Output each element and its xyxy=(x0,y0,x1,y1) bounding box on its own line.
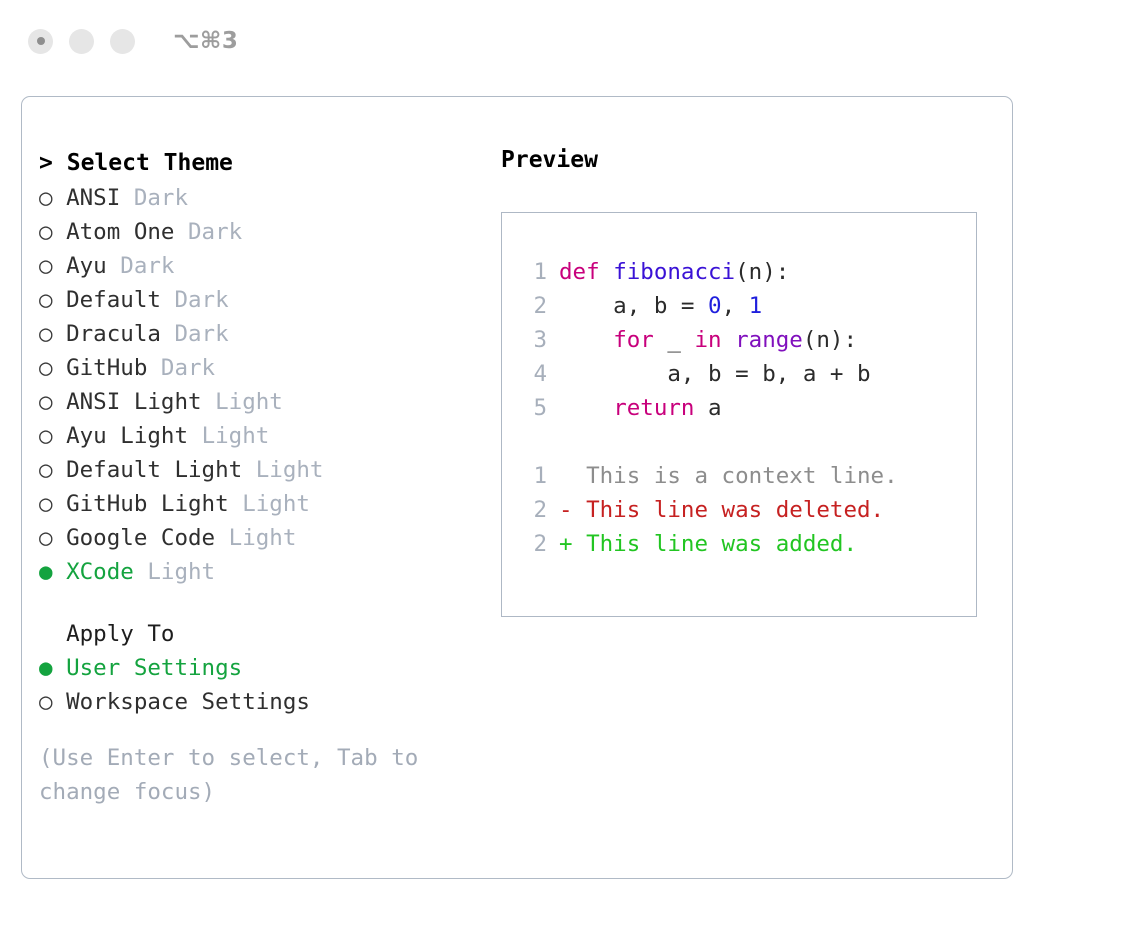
code-token: a xyxy=(694,395,721,421)
code-token: def xyxy=(559,259,613,285)
theme-list-item[interactable]: ○ GitHub Dark xyxy=(39,351,489,385)
radio-unselected-icon: ○ xyxy=(39,457,53,483)
diff-line-text: This is a context line. xyxy=(573,463,898,489)
theme-list-item-tag: Dark xyxy=(174,287,228,313)
preview-box: 1def fibonacci(n):2 a, b = 0, 13 for _ i… xyxy=(501,212,977,617)
code-line-number: 4 xyxy=(521,357,547,391)
theme-list-item-label: ANSI Light xyxy=(66,389,201,415)
radio-unselected-icon: ○ xyxy=(39,219,53,245)
apply-to-option-label: User Settings xyxy=(66,655,242,681)
code-token xyxy=(559,327,613,353)
theme-list-item-label: Ayu Light xyxy=(66,423,188,449)
theme-list-item-tag: Light xyxy=(202,423,270,449)
apply-to-list: ● User Settings○ Workspace Settings xyxy=(39,651,489,719)
theme-list-item[interactable]: ○ Dracula Dark xyxy=(39,317,489,351)
code-token: , xyxy=(722,293,749,319)
diff-line: 1 This is a context line. xyxy=(521,459,898,493)
radio-selected-icon: ● xyxy=(39,559,53,585)
theme-list-item-tag: Light xyxy=(229,525,297,551)
theme-list-item-label: Default Light xyxy=(66,457,242,483)
radio-unselected-icon: ○ xyxy=(39,525,53,551)
theme-list-item[interactable]: ● XCode Light xyxy=(39,555,489,589)
keyboard-hint: (Use Enter to select, Tab to change focu… xyxy=(39,741,444,809)
window-title: ⌥⌘3 xyxy=(173,28,238,54)
theme-list-item-tag: Dark xyxy=(120,253,174,279)
code-token: 1 xyxy=(749,293,763,319)
radio-unselected-icon: ○ xyxy=(39,491,53,517)
theme-list-item-label: Ayu xyxy=(66,253,107,279)
code-token xyxy=(559,395,613,421)
diff-line-number: 2 xyxy=(521,493,547,527)
traffic-light-dot-icon xyxy=(37,37,45,45)
theme-list-item-tag: Dark xyxy=(134,185,188,211)
app-window: ⌥⌘3 > Select Theme ○ ANSI Dark○ Atom One… xyxy=(0,0,1140,934)
apply-to-option[interactable]: ○ Workspace Settings xyxy=(39,685,489,719)
code-line-number: 5 xyxy=(521,391,547,425)
theme-list-item[interactable]: ○ GitHub Light Light xyxy=(39,487,489,521)
code-preview: 1def fibonacci(n):2 a, b = 0, 13 for _ i… xyxy=(521,255,898,561)
code-token: return xyxy=(613,395,694,421)
diff-marker: - xyxy=(559,497,573,523)
theme-list-item-label: GitHub xyxy=(66,355,147,381)
theme-list-item-label: GitHub Light xyxy=(66,491,229,517)
radio-unselected-icon: ○ xyxy=(39,689,53,715)
select-theme-heading: > Select Theme xyxy=(39,145,489,181)
code-token: 0 xyxy=(708,293,722,319)
radio-unselected-icon: ○ xyxy=(39,389,53,415)
diff-line-number: 2 xyxy=(521,527,547,561)
code-line-number: 1 xyxy=(521,255,547,289)
radio-selected-icon: ● xyxy=(39,655,53,681)
theme-list-item-label: Google Code xyxy=(66,525,215,551)
code-token: in xyxy=(694,327,721,353)
code-token xyxy=(722,327,736,353)
diff-line-text: This line was added. xyxy=(573,531,857,557)
theme-list-item[interactable]: ○ Default Dark xyxy=(39,283,489,317)
code-token: (n): xyxy=(735,259,789,285)
code-token: a, b = b, a + b xyxy=(559,361,871,387)
theme-list-item-tag: Dark xyxy=(161,355,215,381)
preview-heading: Preview xyxy=(501,145,991,175)
apply-to-heading-label: Apply To xyxy=(66,621,174,647)
code-line: 1def fibonacci(n): xyxy=(521,255,898,289)
radio-unselected-icon: ○ xyxy=(39,253,53,279)
section-spacer xyxy=(39,589,489,617)
code-line: 2 a, b = 0, 1 xyxy=(521,289,898,323)
code-token: for xyxy=(613,327,654,353)
diff-marker xyxy=(559,463,573,489)
theme-list-item-tag: Light xyxy=(215,389,283,415)
radio-unselected-icon: ○ xyxy=(39,321,53,347)
radio-unselected-icon: ○ xyxy=(39,185,53,211)
diff-marker: + xyxy=(559,531,573,557)
apply-to-option[interactable]: ● User Settings xyxy=(39,651,489,685)
diff-line: 2+ This line was added. xyxy=(521,527,898,561)
window-titlebar: ⌥⌘3 xyxy=(0,0,1140,82)
code-token: range xyxy=(735,327,803,353)
theme-picker-column: > Select Theme ○ ANSI Dark○ Atom One Dar… xyxy=(39,145,489,809)
theme-list-item[interactable]: ○ Google Code Light xyxy=(39,521,489,555)
select-theme-heading-label: Select Theme xyxy=(67,150,233,176)
theme-list-item-label: Default xyxy=(66,287,161,313)
theme-list-item[interactable]: ○ Atom One Dark xyxy=(39,215,489,249)
code-line: 3 for _ in range(n): xyxy=(521,323,898,357)
theme-list-item-label: ANSI xyxy=(66,185,120,211)
window-controls xyxy=(28,29,135,54)
theme-list-item[interactable]: ○ ANSI Light Light xyxy=(39,385,489,419)
apply-to-option-label: Workspace Settings xyxy=(66,689,310,715)
radio-unselected-icon: ○ xyxy=(39,355,53,381)
radio-unselected-icon: ○ xyxy=(39,287,53,313)
theme-list-item[interactable]: ○ ANSI Dark xyxy=(39,181,489,215)
code-diff-spacer xyxy=(521,425,898,459)
code-token: _ xyxy=(654,327,695,353)
theme-list-item-tag: Light xyxy=(242,491,310,517)
theme-list-item-label: XCode xyxy=(66,559,134,585)
theme-list-item-tag: Dark xyxy=(188,219,242,245)
hint-spacer xyxy=(39,719,489,741)
theme-list-item-label: Atom One xyxy=(66,219,174,245)
theme-list-item[interactable]: ○ Ayu Light Light xyxy=(39,419,489,453)
code-line: 5 return a xyxy=(521,391,898,425)
theme-list-item[interactable]: ○ Default Light Light xyxy=(39,453,489,487)
theme-list-item-tag: Light xyxy=(147,559,215,585)
diff-line-number: 1 xyxy=(521,459,547,493)
apply-to-heading: Apply To xyxy=(39,617,489,651)
traffic-light-minimize[interactable] xyxy=(69,29,94,54)
theme-list-item-tag: Light xyxy=(256,457,324,483)
code-line-number: 2 xyxy=(521,289,547,323)
radio-unselected-icon: ○ xyxy=(39,423,53,449)
theme-list-item[interactable]: ○ Ayu Dark xyxy=(39,249,489,283)
traffic-light-close[interactable] xyxy=(28,29,53,54)
prompt-caret: > xyxy=(39,150,53,176)
code-line-number: 3 xyxy=(521,323,547,357)
code-line: 4 a, b = b, a + b xyxy=(521,357,898,391)
theme-list: ○ ANSI Dark○ Atom One Dark○ Ayu Dark○ De… xyxy=(39,181,489,589)
traffic-light-maximize[interactable] xyxy=(110,29,135,54)
theme-list-item-tag: Dark xyxy=(174,321,228,347)
diff-line: 2- This line was deleted. xyxy=(521,493,898,527)
diff-line-text: This line was deleted. xyxy=(573,497,885,523)
theme-list-item-label: Dracula xyxy=(66,321,161,347)
code-token: fibonacci xyxy=(613,259,735,285)
preview-column: Preview 1def fibonacci(n):2 a, b = 0, 13… xyxy=(501,145,991,617)
code-token: (n): xyxy=(803,327,857,353)
code-token: a, b = xyxy=(559,293,708,319)
main-panel: > Select Theme ○ ANSI Dark○ Atom One Dar… xyxy=(21,96,1013,879)
